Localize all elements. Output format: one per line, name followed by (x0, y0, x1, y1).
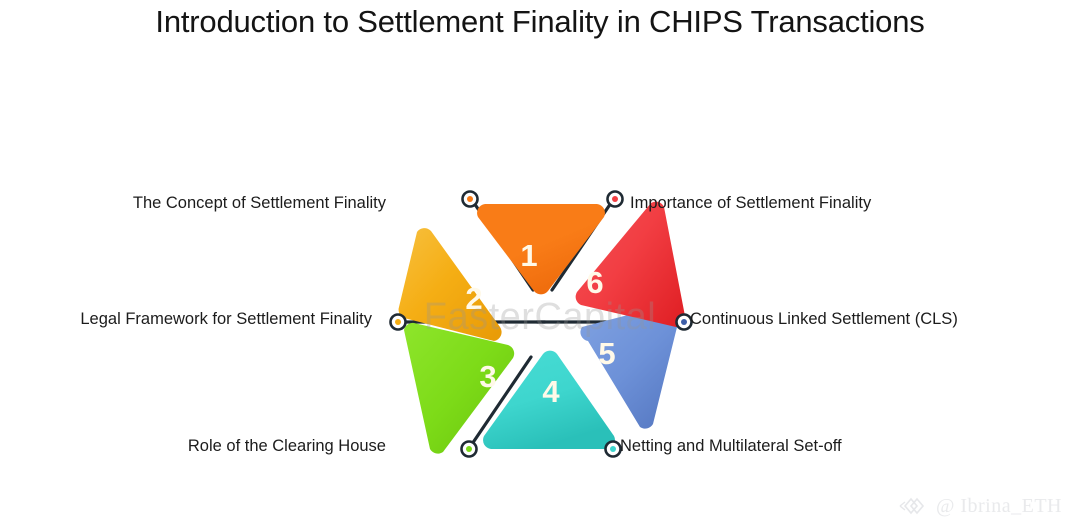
node-label-1: The Concept of Settlement Finality (0, 194, 386, 214)
star-number-6: 6 (586, 265, 603, 300)
connector-marker-1[interactable] (463, 192, 478, 207)
connector-marker-4[interactable] (606, 442, 621, 457)
star-number-5: 5 (598, 336, 615, 371)
node-label-3: Role of the Clearing House (0, 437, 386, 457)
watermark-handle: @ Ibrina_ETH (936, 495, 1062, 518)
star-triangles (399, 202, 686, 454)
watermark: @ Ibrina_ETH (896, 494, 1062, 518)
star-number-3: 3 (479, 359, 496, 394)
star-number-2: 2 (465, 281, 482, 316)
node-label-4: Netting and Multilateral Set-off (620, 437, 1060, 457)
slide-canvas: Introduction to Settlement Finality in C… (0, 0, 1080, 528)
node-label-5: Continuous Linked Settlement (CLS) (690, 310, 1080, 330)
connector-marker-6[interactable] (608, 192, 623, 207)
connector-marker-3[interactable] (462, 442, 477, 457)
diamond-logo-icon (896, 494, 930, 518)
star-number-4: 4 (542, 374, 560, 409)
node-label-2: Legal Framework for Settlement Finality (0, 310, 372, 330)
node-label-6: Importance of Settlement Finality (630, 194, 1070, 214)
star-number-1: 1 (520, 238, 537, 273)
connector-marker-2[interactable] (391, 315, 406, 330)
